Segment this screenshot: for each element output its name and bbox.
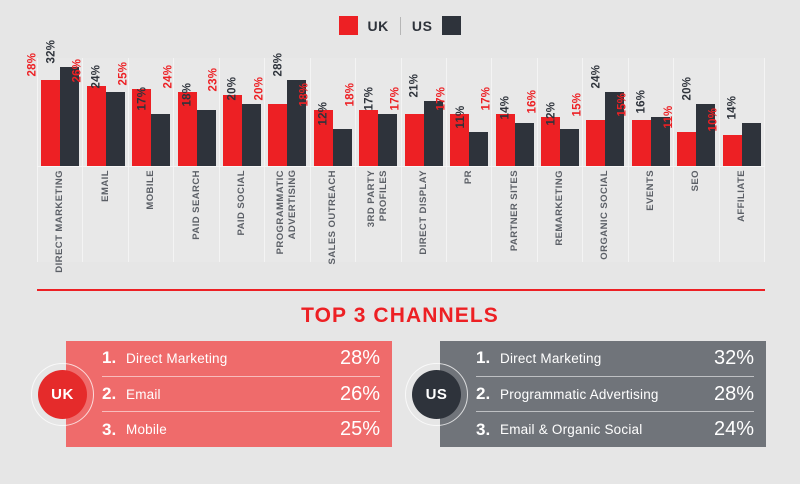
chart-bar-value-label: 20% (228, 76, 240, 100)
chart-category-column: 25%17%MOBILE (129, 58, 174, 262)
top3-rank: 2. (476, 384, 500, 404)
chart-category-label: DIRECT DISPLAY (402, 170, 446, 262)
chart-plot-area: 17%11% (447, 58, 491, 166)
chart-bar-wrapper: 12% (333, 58, 352, 166)
legend-swatch-us-icon (442, 16, 461, 35)
chart-bar-value-label: 16% (637, 89, 649, 113)
section-divider (37, 289, 765, 291)
chart-bar-uk (41, 80, 60, 166)
top3-row: 1.Direct Marketing28% (102, 341, 380, 377)
bar-chart: 28%32%DIRECT MARKETING26%24%EMAIL25%17%M… (37, 58, 765, 262)
chart-bar-wrapper: 11% (677, 58, 696, 166)
chart-bar-us (242, 104, 261, 166)
chart-bar-uk (632, 120, 651, 166)
chart-category-label: EMAIL (83, 170, 127, 262)
chart-bar-uk (723, 135, 742, 166)
chart-bar-wrapper: 20% (242, 58, 261, 166)
top3-row: 1.Direct Marketing32% (476, 341, 754, 377)
chart-bar-value-label: 26% (73, 58, 85, 82)
chart-bar-value-label: 20% (683, 76, 695, 100)
chart-category-label-text: PAID SEARCH (191, 170, 203, 240)
chart-bar-value-label: 12% (546, 101, 558, 125)
chart-bar-value-label: 16% (527, 89, 539, 113)
chart-bar-value-label: 17% (137, 86, 149, 110)
top3-rank: 1. (476, 348, 500, 368)
legend-swatch-uk-icon (339, 16, 358, 35)
chart-plot-area: 18%12% (311, 58, 355, 166)
chart-bar-us (469, 132, 488, 166)
chart-category-label-text: PARTNER SITES (509, 170, 521, 251)
chart-baseline (37, 166, 765, 167)
chart-bar-uk (87, 86, 106, 166)
chart-bar-wrapper: 14% (742, 58, 761, 166)
chart-bar-us (106, 92, 125, 166)
chart-category-column: 10%14%AFFILIATE (720, 58, 765, 262)
chart-bar-group: 23%20% (220, 58, 264, 166)
chart-bar-value-label: 24% (592, 64, 604, 88)
top3-row: 2.Email26% (102, 377, 380, 413)
chart-category-label: MOBILE (129, 170, 173, 262)
chart-category-label: SALES OUTREACH (311, 170, 355, 262)
legend-label-uk: UK (367, 18, 388, 34)
chart-category-column: 15%16%EVENTS (629, 58, 674, 262)
chart-category-label-text: PR (463, 170, 475, 184)
chart-category-label-text: PROGRAMMATIC ADVERTISING (275, 170, 299, 254)
chart-category-label-text: REMARKETING (554, 170, 566, 246)
chart-bar-wrapper: 24% (178, 58, 197, 166)
chart-category-label: ORGANIC SOCIAL (583, 170, 627, 262)
chart-bar-wrapper: 21% (424, 58, 443, 166)
top3-value: 32% (714, 347, 754, 370)
chart-category-column: 11%20%SEO (674, 58, 719, 262)
chart-category-label: AFFILIATE (720, 170, 764, 262)
top3-row: 3.Mobile25% (102, 412, 380, 447)
chart-plot-area: 18%17% (356, 58, 400, 166)
chart-category-label: SEO (674, 170, 718, 262)
chart-plot-area: 20%28% (265, 58, 309, 166)
top3-row: 2.Programmatic Advertising28% (476, 377, 754, 413)
chart-bar-group: 10%14% (720, 58, 764, 166)
chart-bar-wrapper: 28% (41, 58, 60, 166)
chart-bar-us (378, 114, 397, 166)
chart-category-label-text: DIRECT MARKETING (54, 170, 66, 273)
chart-bar-wrapper: 28% (287, 58, 306, 166)
chart-category-label-text: MOBILE (145, 170, 157, 210)
chart-category-column: 15%24%ORGANIC SOCIAL (583, 58, 628, 262)
chart-bar-value-label: 23% (209, 67, 221, 91)
chart-category-label: PAID SOCIAL (220, 170, 264, 262)
chart-bar-group: 17%21% (402, 58, 446, 166)
chart-bar-us (515, 123, 534, 166)
chart-bar-uk (405, 114, 424, 166)
top3-rank: 1. (102, 348, 126, 368)
top3-channel-name: Email (126, 387, 340, 402)
chart-category-column: 28%32%DIRECT MARKETING (37, 58, 83, 262)
chart-bar-us (424, 101, 443, 166)
chart-bar-value-label: 17% (391, 86, 403, 110)
chart-bar-us (197, 110, 216, 166)
uk-badge: UK (38, 370, 87, 419)
chart-bar-value-label: 15% (573, 92, 585, 116)
chart-bar-group: 18%12% (311, 58, 355, 166)
chart-category-label-text: 3RD PARTY PROFILES (366, 170, 390, 227)
chart-bar-uk (359, 110, 378, 166)
chart-plot-area: 17%21% (402, 58, 446, 166)
chart-bar-value-label: 28% (274, 52, 286, 76)
chart-bar-wrapper: 25% (132, 58, 151, 166)
chart-bar-us (560, 129, 579, 166)
top3-row: 3.Email & Organic Social24% (476, 412, 754, 447)
chart-bar-value-label: 15% (618, 92, 630, 116)
us-badge: US (412, 370, 461, 419)
chart-category-label-text: AFFILIATE (736, 170, 748, 222)
chart-bar-group: 17%11% (447, 58, 491, 166)
chart-bar-value-label: 17% (436, 86, 448, 110)
chart-bar-value-label: 17% (482, 86, 494, 110)
chart-category-label-text: SALES OUTREACH (327, 170, 339, 264)
chart-category-column: 16%12%REMARKETING (538, 58, 583, 262)
chart-bar-value-label: 18% (300, 82, 312, 106)
infographic-page: UK US 28%32%DIRECT MARKETING26%24%EMAIL2… (0, 0, 800, 484)
chart-bar-value-label: 10% (709, 107, 721, 131)
chart-bar-value-label: 14% (501, 95, 513, 119)
chart-category-label: 3RD PARTY PROFILES (356, 170, 400, 262)
top3-value: 28% (340, 347, 380, 370)
chart-bar-us (333, 129, 352, 166)
chart-category-label-text: EVENTS (645, 170, 657, 211)
top3-panel-uk: 1.Direct Marketing28%2.Email26%3.Mobile2… (66, 341, 392, 447)
chart-category-label: PROGRAMMATIC ADVERTISING (265, 170, 309, 262)
chart-bar-value-label: 20% (255, 76, 267, 100)
top3-rank: 3. (476, 420, 500, 440)
chart-category-label-text: SEO (690, 170, 702, 191)
chart-bar-uk (496, 114, 515, 166)
chart-bar-value-label: 11% (456, 105, 468, 128)
chart-bar-value-label: 24% (164, 64, 176, 88)
chart-plot-area: 10%14% (720, 58, 764, 166)
chart-bar-group: 20%28% (265, 58, 309, 166)
chart-bar-uk (268, 104, 287, 166)
top3-title: TOP 3 CHANNELS (0, 304, 800, 328)
chart-bar-wrapper: 18% (359, 58, 378, 166)
chart-bar-uk (677, 132, 696, 166)
chart-category-label: DIRECT MARKETING (38, 170, 82, 262)
chart-bar-value-label: 32% (46, 39, 58, 63)
chart-category-label-text: EMAIL (100, 170, 112, 202)
chart-bar-wrapper: 11% (469, 58, 488, 166)
chart-bar-value-label: 21% (410, 73, 422, 97)
top3-rank: 2. (102, 384, 126, 404)
chart-bar-group: 18%17% (356, 58, 400, 166)
chart-bar-value-label: 25% (118, 61, 130, 85)
chart-category-label: PAID SEARCH (174, 170, 218, 262)
chart-category-label: EVENTS (629, 170, 673, 262)
chart-category-column: 17%14%PARTNER SITES (492, 58, 537, 262)
chart-category-label: PR (447, 170, 491, 262)
legend-separator (400, 17, 401, 35)
chart-category-label-text: PAID SOCIAL (236, 170, 248, 235)
chart-bar-value-label: 14% (728, 95, 740, 119)
chart-bar-us (151, 114, 170, 166)
chart-legend: UK US (0, 16, 800, 35)
chart-bar-value-label: 24% (92, 64, 104, 88)
chart-category-label-text: DIRECT DISPLAY (418, 170, 430, 255)
chart-bar-wrapper: 17% (378, 58, 397, 166)
top3-channel-name: Mobile (126, 422, 340, 437)
chart-bar-uk (223, 95, 242, 166)
chart-bar-value-label: 17% (364, 86, 376, 110)
top3-value: 24% (714, 418, 754, 441)
chart-bar-value-label: 18% (345, 82, 357, 106)
top3-value: 28% (714, 383, 754, 406)
top3-rank: 3. (102, 420, 126, 440)
chart-bar-value-label: 28% (27, 52, 39, 76)
top3-panel-us: 1.Direct Marketing32%2.Programmatic Adve… (440, 341, 766, 447)
top3-channel-name: Email & Organic Social (500, 422, 714, 437)
top3-channel-name: Programmatic Advertising (500, 387, 714, 402)
chart-category-label: PARTNER SITES (492, 170, 536, 262)
top3-channel-name: Direct Marketing (126, 351, 340, 366)
top3-value: 25% (340, 418, 380, 441)
top3-value: 26% (340, 383, 380, 406)
chart-bar-uk (586, 120, 605, 166)
chart-category-label-text: ORGANIC SOCIAL (599, 170, 611, 260)
chart-category-label: REMARKETING (538, 170, 582, 262)
legend-label-us: US (412, 18, 433, 34)
top3-channel-name: Direct Marketing (500, 351, 714, 366)
chart-category-column: 26%24%EMAIL (83, 58, 128, 262)
chart-bar-value-label: 18% (183, 82, 195, 106)
chart-bar-value-label: 11% (664, 105, 676, 128)
chart-bar-us (742, 123, 761, 166)
chart-bar-wrapper: 23% (223, 58, 242, 166)
chart-bar-value-label: 12% (319, 101, 331, 125)
chart-plot-area: 23%20% (220, 58, 264, 166)
